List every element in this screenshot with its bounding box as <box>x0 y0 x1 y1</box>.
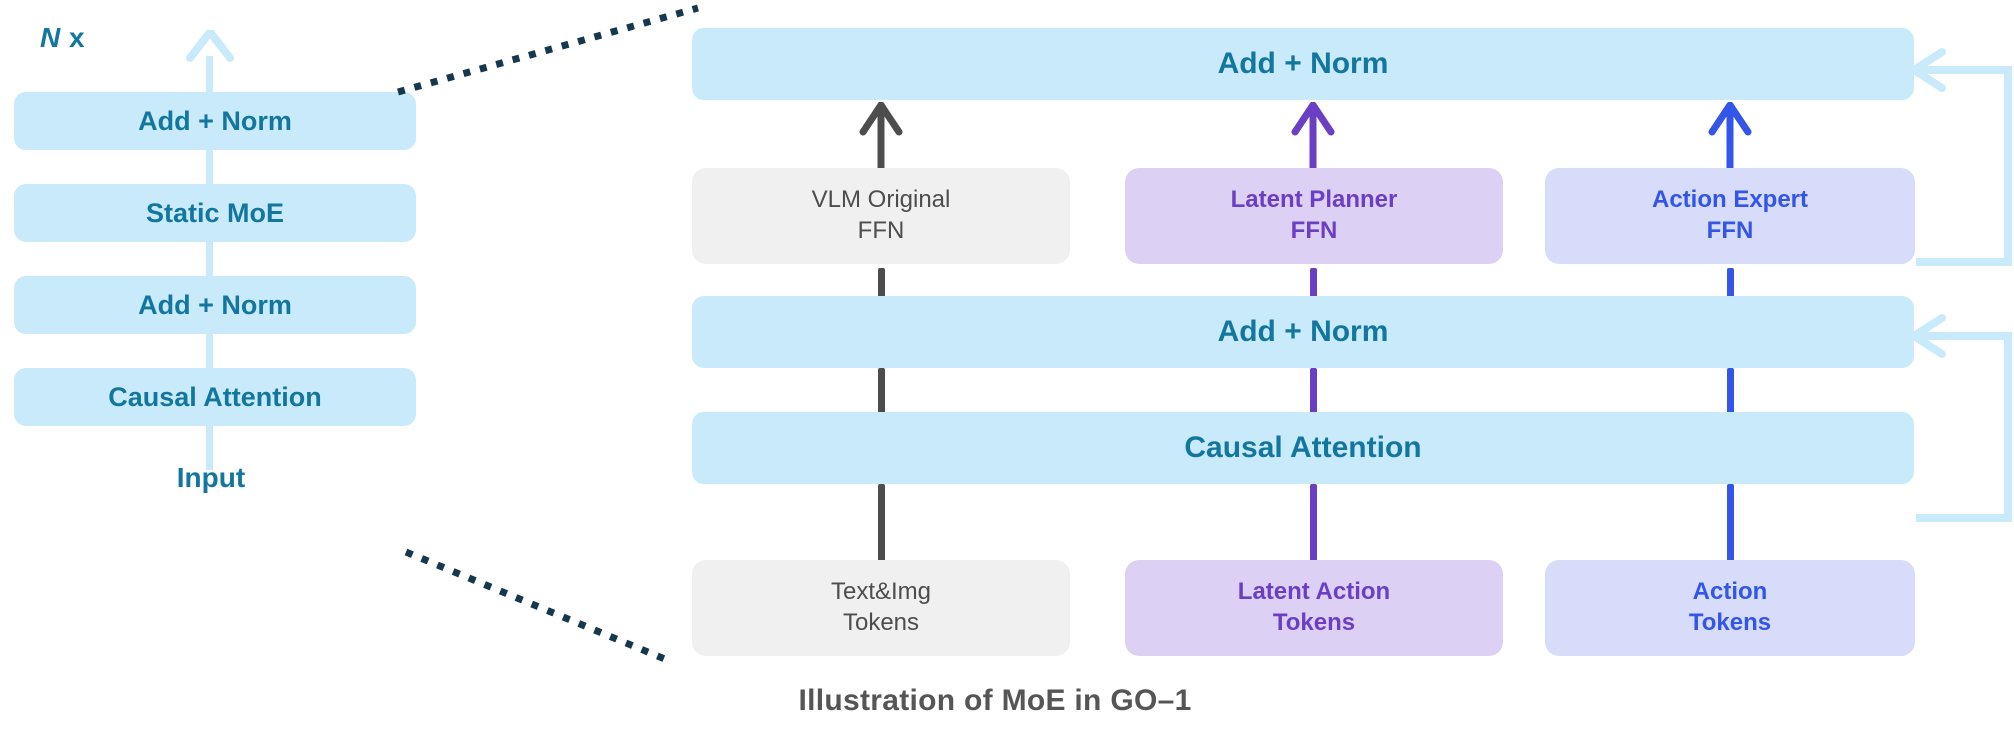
token-box-line-2: Tokens <box>1273 609 1355 636</box>
ffn-box-line-2: FFN <box>858 217 905 244</box>
flow-line-vlm <box>878 368 885 414</box>
ffn-box-line-2: FFN <box>1707 217 1754 244</box>
flow-line-vlm <box>878 484 885 562</box>
token-box-text-img: Text&ImgTokens <box>692 560 1070 656</box>
arrow-up-icon-vlm <box>858 102 904 168</box>
ffn-box-label: Latent PlannerFFN <box>1231 185 1398 246</box>
ffn-box-line-2: FFN <box>1291 217 1338 244</box>
token-box-line-2: Tokens <box>843 609 919 636</box>
flow-line-action <box>1727 484 1734 562</box>
ffn-box-vlm-original: VLM OriginalFFN <box>692 168 1070 264</box>
ffn-box-line-1: VLM Original <box>812 186 951 213</box>
ffn-box-latent-planner: Latent PlannerFFN <box>1125 168 1503 264</box>
right-block-add-norm-top: Add + Norm <box>692 28 1914 100</box>
flow-line-latent <box>1310 268 1317 298</box>
token-box-line-1: Text&Img <box>831 578 931 605</box>
ffn-box-label: Action ExpertFFN <box>1652 185 1808 246</box>
token-box-action: ActionTokens <box>1545 560 1915 656</box>
diagram-canvas: N x Add + Norm Static MoE Add + Norm Cau… <box>0 0 2014 748</box>
figure-caption: Illustration of MoE in GO–1 <box>0 684 1990 718</box>
flow-line-latent <box>1310 368 1317 414</box>
flow-line-vlm <box>878 268 885 298</box>
right-panel-moe-detail: Add + Norm VLM OriginalFFN Latent Planne… <box>0 0 2014 700</box>
arrow-up-icon-latent-planner <box>1290 102 1336 168</box>
token-box-label: Latent ActionTokens <box>1238 577 1390 638</box>
flow-line-action <box>1727 368 1734 414</box>
ffn-box-label: VLM OriginalFFN <box>812 185 951 246</box>
ffn-box-line-1: Latent Planner <box>1231 186 1398 213</box>
ffn-box-action-expert: Action ExpertFFN <box>1545 168 1915 264</box>
token-box-latent-action: Latent ActionTokens <box>1125 560 1503 656</box>
flow-line-latent <box>1310 484 1317 562</box>
residual-connection-top <box>1900 30 2014 270</box>
arrow-up-icon-action-expert <box>1707 102 1753 168</box>
residual-connection-bottom <box>1900 296 2014 526</box>
flow-line-action <box>1727 268 1734 298</box>
right-block-causal-attention: Causal Attention <box>692 412 1914 484</box>
token-box-line-1: Action <box>1693 578 1768 605</box>
token-box-line-1: Latent Action <box>1238 578 1390 605</box>
token-box-line-2: Tokens <box>1689 609 1771 636</box>
token-box-label: Text&ImgTokens <box>831 577 931 638</box>
right-block-add-norm-mid: Add + Norm <box>692 296 1914 368</box>
token-box-label: ActionTokens <box>1689 577 1771 638</box>
ffn-box-line-1: Action Expert <box>1652 186 1808 213</box>
